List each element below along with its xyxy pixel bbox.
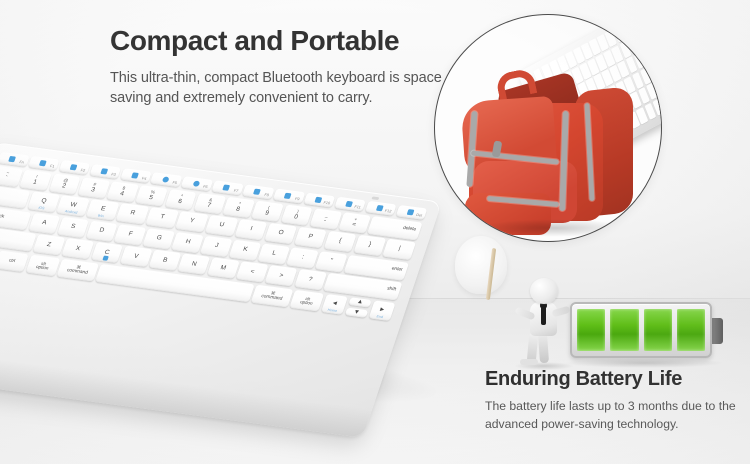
feature-top-copy: Compact and Portable This ultra-thin, co… — [110, 26, 450, 109]
battery-icon — [570, 302, 712, 358]
key-quote[interactable]: " — [315, 251, 347, 272]
key-f11-volume-down-icon[interactable]: F11 — [334, 197, 366, 212]
key-q[interactable]: QiOS — [27, 191, 60, 212]
mascot-figure — [508, 276, 580, 368]
key-p[interactable]: P — [294, 227, 327, 248]
key-s[interactable]: S — [57, 217, 89, 238]
mascot-tie — [541, 305, 546, 325]
key-e[interactable]: EWin — [86, 199, 119, 220]
backpack-shadow — [479, 219, 629, 237]
feature-top-body: This ultra-thin, compact Bluetooth keybo… — [110, 68, 450, 109]
key-command-right[interactable]: ⌘command — [251, 285, 293, 308]
key-f5-search-icon[interactable]: F5 — [150, 172, 182, 187]
key-f3-mission-control-icon[interactable]: F3 — [89, 164, 121, 179]
key-fn-screen[interactable]: Fn — [0, 152, 29, 167]
key-comma[interactable]: < — [236, 262, 269, 283]
key-arrow-right[interactable]: ►End — [368, 300, 395, 321]
key-b[interactable]: B — [149, 250, 182, 271]
key-arrow-up[interactable]: ▲ — [348, 297, 372, 308]
key-h[interactable]: H — [172, 232, 204, 253]
key-f7-rewind-icon[interactable]: F7 — [212, 180, 244, 195]
key-arrow-left[interactable]: ◄Home — [321, 294, 348, 315]
key-l[interactable]: L — [258, 243, 290, 264]
key-g[interactable]: G — [143, 228, 175, 249]
bluetooth-led-indicator — [371, 196, 379, 200]
key-arrow-down[interactable]: ▼ — [345, 307, 369, 318]
battery-bar — [577, 309, 605, 351]
key-f1-brightness-down-icon[interactable]: F1 — [28, 156, 60, 171]
key-3[interactable]: #3 — [77, 177, 110, 198]
key-minus[interactable]: _- — [309, 208, 342, 229]
mascot-leg — [538, 333, 549, 364]
key-a[interactable]: A — [28, 213, 60, 234]
key-w[interactable]: WAndroid — [56, 195, 89, 216]
key-option-right[interactable]: altoption — [290, 290, 325, 312]
key-bracket-right[interactable]: } — [353, 235, 386, 256]
key-del-lock-icon[interactable]: Del — [395, 205, 427, 220]
key-slash[interactable]: ? — [294, 269, 327, 290]
key-period[interactable]: > — [265, 265, 298, 286]
key-5[interactable]: %5 — [135, 185, 168, 206]
backpack-illustration — [435, 15, 661, 241]
key-t[interactable]: T — [145, 207, 178, 228]
feature-bottom-body: The battery life lasts up to 3 months du… — [485, 398, 747, 433]
key-f[interactable]: F — [114, 224, 146, 245]
key-f4-launchpad-icon[interactable]: F4 — [120, 168, 152, 183]
key-c-bluetooth-icon[interactable]: C — [91, 242, 124, 263]
key-u[interactable]: U — [205, 215, 238, 236]
page-title: Compact and Portable — [110, 26, 450, 57]
key-tab[interactable]: tab — [0, 186, 30, 209]
key-x[interactable]: X — [61, 238, 94, 259]
battery-shadow — [564, 358, 724, 368]
feature-bottom-title: Enduring Battery Life — [485, 368, 747, 391]
key-j[interactable]: J — [200, 236, 232, 257]
key-6[interactable]: ^6 — [164, 189, 197, 210]
key-i[interactable]: I — [234, 219, 267, 240]
key-f9-fast-forward-icon[interactable]: F9 — [273, 189, 305, 204]
key-y[interactable]: Y — [175, 211, 208, 232]
key-2[interactable]: @2 — [48, 173, 81, 194]
key-f8-play-pause-icon[interactable]: F8 — [242, 184, 274, 199]
key-0[interactable]: )0 — [280, 204, 313, 225]
key-7[interactable]: &7 — [193, 192, 226, 213]
key-v[interactable]: V — [120, 246, 153, 267]
key-8[interactable]: *8 — [222, 196, 255, 217]
key-d[interactable]: D — [85, 220, 117, 241]
battery-bar — [677, 309, 705, 351]
feature-bottom-copy: Enduring Battery Life The battery life l… — [485, 368, 747, 433]
battery-bar — [644, 309, 672, 351]
key-n[interactable]: N — [178, 254, 211, 275]
keyboard-body[interactable]: Fn F1 F2 F3 F4 F5 F6 F7 F8 F9 F10 F11 F1… — [0, 142, 442, 438]
key-f12-volume-up-icon[interactable]: F12 — [365, 201, 397, 216]
key-1[interactable]: !1 — [19, 169, 52, 190]
key-equals[interactable]: += — [338, 212, 371, 233]
key-caps-lock[interactable]: caps lock — [0, 206, 32, 230]
battery-illustration — [500, 276, 750, 368]
key-r[interactable]: R — [116, 203, 149, 224]
mascot-foot — [520, 359, 538, 365]
key-semicolon[interactable]: : — [286, 247, 318, 268]
key-backslash[interactable]: | — [383, 239, 416, 260]
key-o[interactable]: O — [264, 223, 297, 244]
key-4[interactable]: $4 — [106, 181, 139, 202]
key-9[interactable]: (9 — [251, 200, 284, 221]
mascot-head — [530, 278, 558, 304]
key-m[interactable]: M — [207, 258, 240, 279]
battery-bar — [610, 309, 638, 351]
key-f2-brightness-up-icon[interactable]: F2 — [59, 160, 91, 175]
backpack-inset-circle — [434, 14, 662, 242]
arrow-key-stack: ▲ ▼ — [345, 297, 372, 318]
keyboard-product: Fn F1 F2 F3 F4 F5 F6 F7 F8 F9 F10 F11 F1… — [0, 142, 464, 442]
key-k[interactable]: K — [229, 240, 261, 261]
key-command-left[interactable]: ⌘command — [57, 259, 99, 282]
key-ctrl[interactable]: ctrl — [0, 250, 29, 272]
key-bracket-left[interactable]: { — [323, 231, 356, 252]
banner-background: Compact and Portable This ultra-thin, co… — [0, 0, 750, 464]
key-z[interactable]: Z — [32, 234, 65, 255]
key-f6-dot-icon[interactable]: F6 — [181, 176, 213, 191]
key-option-left[interactable]: altoption — [26, 255, 61, 277]
key-f10-mute-icon[interactable]: F10 — [303, 193, 335, 208]
